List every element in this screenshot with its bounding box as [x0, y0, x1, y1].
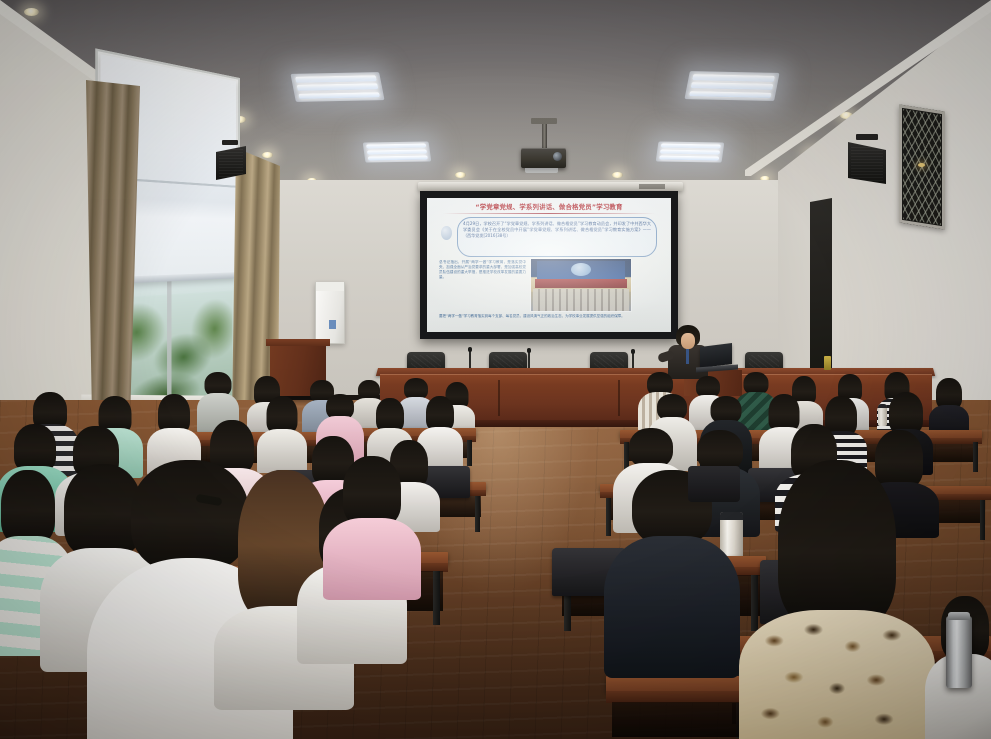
wall-speaker-left [216, 146, 246, 180]
stainless-thermos [946, 616, 972, 688]
projector-lens-icon [553, 152, 562, 161]
slide-callout-text: 4月29日，学校召开了“学党章党规、学系列讲话、做合格党员”学习教育动员会，并印… [463, 221, 651, 240]
screen-brand-label [639, 184, 665, 189]
audience-person [930, 378, 968, 436]
ventilation-grille [899, 104, 945, 229]
travel-tumbler [878, 404, 887, 426]
thermos-lid [948, 612, 970, 620]
downlight [24, 8, 39, 16]
speaker-bracket [856, 134, 878, 140]
presenter-face [681, 333, 695, 349]
air-conditioner-unit [315, 282, 345, 344]
slide-callout-box: 4月29日，学校召开了“学党章党规、学系列讲话、做合格党员”学习教育动员会，并印… [457, 217, 657, 257]
lecture-hall-photo: “学党章党规、学系列讲话、做合格党员”学习教育 4月29日，学校召开了“学党章党… [0, 0, 991, 739]
vent-reflection [918, 163, 925, 167]
air-conditioner-label [329, 320, 336, 329]
downlight [612, 172, 623, 178]
slide-column-text: 总书记指出，开展“两学一做”学习教育，是落实党中央、加强全面从严治党要求的重大部… [439, 260, 526, 280]
slide-bullet-icon [441, 226, 452, 240]
downlight [455, 172, 466, 178]
ceiling-panel-light [290, 72, 384, 102]
gooseneck-microphone [469, 350, 471, 370]
screen-surface: “学党章党规、学系列讲话、做合格党员”学习教育 4月29日，学校召开了“学党章党… [427, 198, 671, 332]
projector-mount-rod [542, 124, 547, 150]
ceiling-panel-light [684, 71, 779, 101]
slide-title: “学党章党规、学系列讲话、做合格党员”学习教育 [436, 203, 662, 212]
table-panel-seam [498, 380, 500, 416]
table-panel-seam [618, 380, 620, 416]
presenter-lanyard [686, 348, 689, 364]
slide-title-rule [443, 213, 655, 214]
slide-footer-text-block: 要把“两学一做”学习教育落实到每个支部、每名党员，建设风清气正的政治生态，为学校… [439, 314, 661, 319]
photo-stage-table [535, 279, 627, 288]
downlight [262, 152, 273, 158]
photo-globe-emblem-icon [571, 263, 591, 276]
projector-vent [525, 168, 558, 173]
audience-person [326, 456, 418, 596]
handbag [688, 466, 740, 502]
lectern-top [266, 339, 330, 346]
audience-person-foreground [744, 460, 930, 739]
slide-embedded-photo [531, 259, 631, 311]
beverage-can [824, 356, 831, 370]
screen-roller-housing[interactable] [418, 182, 683, 191]
speaker-bracket [222, 140, 238, 145]
photo-audience-seats [533, 289, 629, 311]
ceiling-panel-light [363, 141, 432, 162]
air-conditioner-top [316, 282, 344, 291]
slide-footer-text: 要把“两学一做”学习教育落实到每个支部、每名党员，建设风清气正的政治生态，为学校… [439, 314, 661, 319]
projection-screen: “学党章党规、学系列讲话、做合格党员”学习教育 4月29日，学校召开了“学党章党… [420, 191, 678, 339]
ceiling-panel-light [656, 141, 725, 162]
